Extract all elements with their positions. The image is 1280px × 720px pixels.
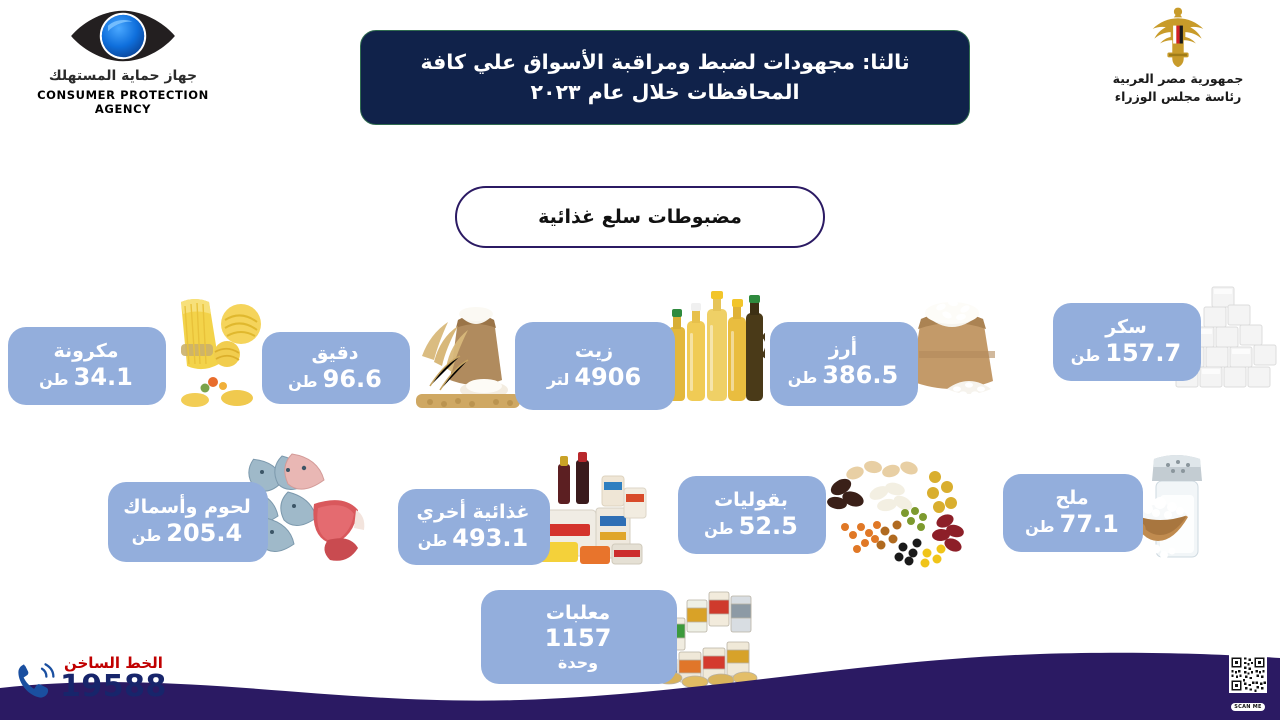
card-pasta[interactable]: مكرونة 34.1طن [8,327,166,405]
card-value-row: 77.1طن [1017,510,1127,539]
agency-name-arabic: جهاز حماية المستهلك [18,68,228,85]
page-title: ثالثا: مجهودات لضبط ومراقبة الأسواق علي … [387,48,943,107]
card-value-row: 4906لتر [529,363,659,392]
egypt-eagle-emblem-icon [1149,6,1207,68]
footer-wave-decoration [0,640,1280,720]
card-label: لحوم وأسماك [122,496,252,518]
card-unit: طن [1071,346,1100,365]
oil-bottles-icon [665,283,765,411]
flour-sack-icon [400,290,530,416]
card-other-food[interactable]: غذائية أخري 493.1طن [398,489,550,565]
card-value-row: 96.6طن [276,365,394,394]
card-unit: لتر [547,370,570,389]
gov-line-cabinet: رئاسة مجلس الوزراء [1088,88,1268,106]
card-rice[interactable]: أرز 386.5طن [770,322,918,406]
card-value-row: 34.1طن [22,363,150,392]
card-sugar[interactable]: سكر 157.7طن [1053,303,1201,381]
section-subtitle: مضبوطات سلع غذائية [538,206,742,228]
card-value: 4906 [574,363,641,392]
qr-caption: SCAN ME [1231,703,1265,711]
qr-code-block[interactable]: SCAN ME [1226,655,1270,712]
card-legumes[interactable]: بقوليات 52.5طن [678,476,826,554]
card-value: 386.5 [822,361,898,390]
card-value: 493.1 [452,524,528,553]
card-meat-fish[interactable]: لحوم وأسماك 205.4طن [108,482,268,562]
phone-ringing-icon [14,660,56,702]
card-label: مكرونة [22,340,150,362]
card-value: 157.7 [1105,339,1181,368]
hotline-number: 19588 [60,672,167,702]
card-unit: طن [704,519,733,538]
card-unit: طن [39,370,68,389]
hotline-block[interactable]: الخط الساخن 19588 [14,656,167,702]
card-label: بقوليات [692,489,810,511]
card-unit: طن [418,531,447,550]
card-value: 205.4 [166,519,242,548]
agency-name-english: CONSUMER PROTECTION AGENCY [18,88,228,116]
card-label: دقيق [276,342,394,364]
card-label: معلبات [495,602,661,624]
card-value: 34.1 [74,363,133,392]
eye-logo-icon [68,8,178,64]
agency-logo-block: جهاز حماية المستهلك CONSUMER PROTECTION … [18,8,228,116]
card-oil[interactable]: زيت 4906لتر [515,322,675,410]
legumes-icon [805,455,970,570]
card-unit: طن [288,372,317,391]
page-title-banner: ثالثا: مجهودات لضبط ومراقبة الأسواق علي … [360,30,970,125]
card-value-row: 386.5طن [784,361,902,390]
card-label: سكر [1067,316,1185,338]
card-value-row: 205.4طن [122,519,252,548]
card-value-row: 493.1طن [412,524,534,553]
infographic-page: جهاز حماية المستهلك CONSUMER PROTECTION … [0,0,1280,720]
card-label: ملح [1017,487,1127,509]
card-value-row: 157.7طن [1067,339,1185,368]
card-value: 96.6 [323,365,382,394]
card-value-row: 52.5طن [692,512,810,541]
gov-line-country: جمهورية مصر العربية [1088,70,1268,88]
card-label: زيت [529,340,659,362]
card-label: أرز [784,338,902,360]
card-unit: طن [132,526,161,545]
card-unit: طن [788,368,817,387]
card-label: غذائية أخري [412,501,534,523]
government-emblem-block: جمهورية مصر العربية رئاسة مجلس الوزراء [1088,6,1268,106]
card-value: 52.5 [739,512,798,541]
card-flour[interactable]: دقيق 96.6طن [262,332,410,404]
qr-code-icon [1229,655,1267,693]
section-subtitle-pill: مضبوطات سلع غذائية [455,186,825,248]
card-salt[interactable]: ملح 77.1طن [1003,474,1143,552]
card-value: 77.1 [1060,510,1119,539]
card-unit: طن [1025,517,1054,536]
